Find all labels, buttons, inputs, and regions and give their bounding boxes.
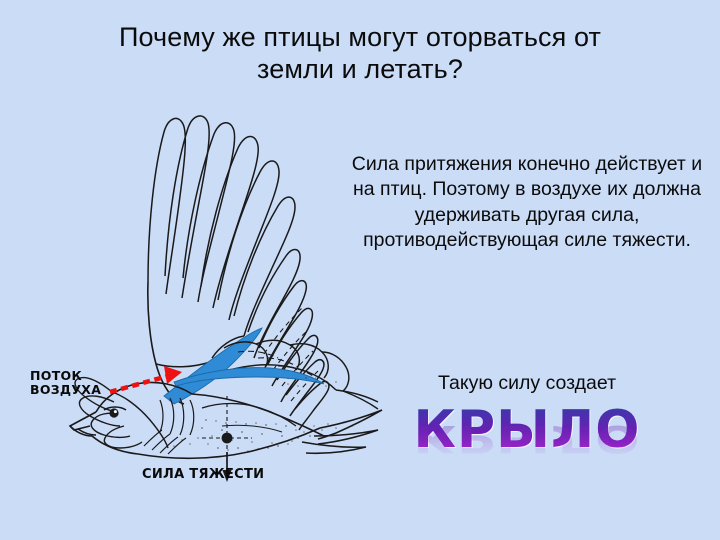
wordart-answer: КРЫЛО КРЫЛО [340, 404, 714, 500]
slide-canvas: Почему же птицы могут оторваться от земл… [0, 0, 720, 540]
lead-in-text: Такую силу создает [340, 371, 714, 396]
explanation-paragraph: Сила притяжения конечно действует и на п… [340, 152, 714, 253]
airflow-label: ПОТОК ВОЗДУХА [30, 369, 101, 396]
airflow-arrow [110, 366, 182, 392]
gravity-label: СИЛА ТЯЖЕСТИ [142, 468, 264, 482]
page-title: Почему же птицы могут оторваться от земл… [40, 22, 680, 86]
eye [109, 408, 118, 417]
wordart-answer-reflection: КРЫЛО [340, 420, 714, 457]
